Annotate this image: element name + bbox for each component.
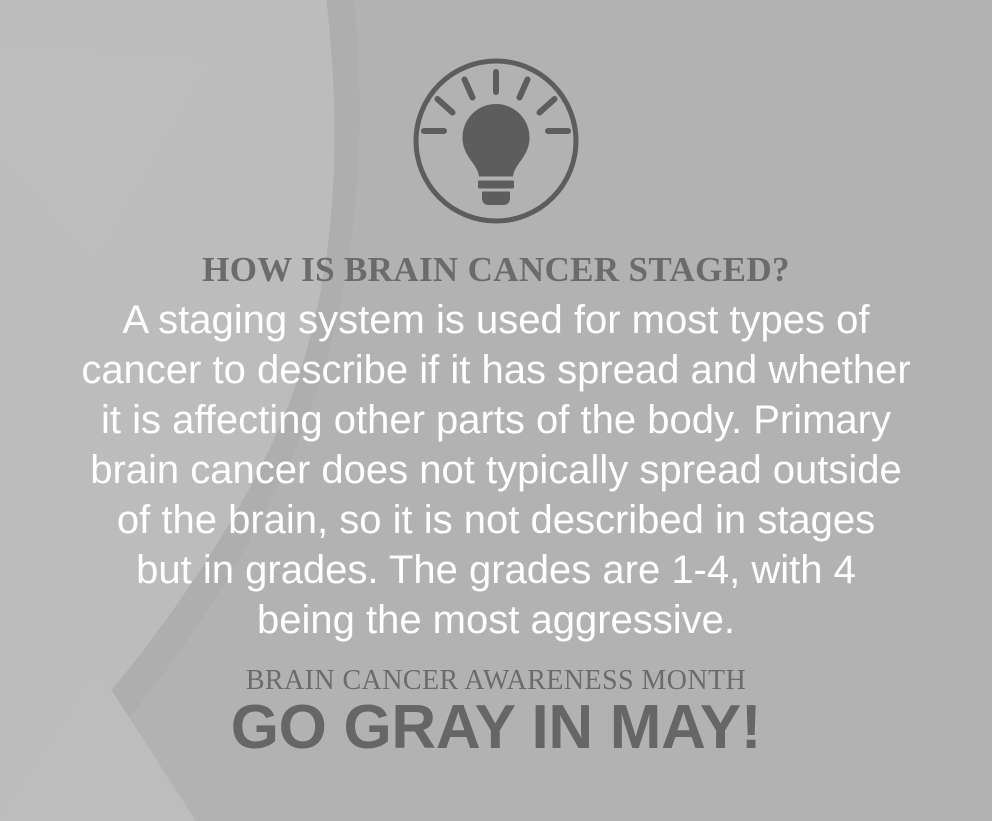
campaign-slogan: GO GRAY IN MAY! xyxy=(231,697,762,759)
campaign-lockup: BRAIN CANCER AWARENESS MONTH GO GRAY IN … xyxy=(231,667,762,759)
lightbulb-icon xyxy=(424,72,568,205)
body-line: A staging system is used for most types … xyxy=(26,295,966,345)
body-line: it is affecting other parts of the body.… xyxy=(26,395,966,445)
body-line: of the brain, so it is not described in … xyxy=(26,495,966,545)
bulb-base-icon xyxy=(482,192,510,206)
lightbulb-badge xyxy=(407,52,585,230)
bulb-neck-icon xyxy=(478,181,514,189)
body-line: brain cancer does not typically spread o… xyxy=(26,445,966,495)
body-copy: A staging system is used for most types … xyxy=(26,295,966,645)
body-line: cancer to describe if it has spread and … xyxy=(26,345,966,395)
awareness-poster: HOW IS BRAIN CANCER STAGED? A staging sy… xyxy=(0,0,992,821)
page-title: HOW IS BRAIN CANCER STAGED? xyxy=(202,252,790,289)
body-line: but in grades. The grades are 1-4, with … xyxy=(26,545,966,595)
body-line: being the most aggressive. xyxy=(26,595,966,645)
bulb-glass-icon xyxy=(463,104,530,177)
campaign-kicker: BRAIN CANCER AWARENESS MONTH xyxy=(231,667,762,695)
